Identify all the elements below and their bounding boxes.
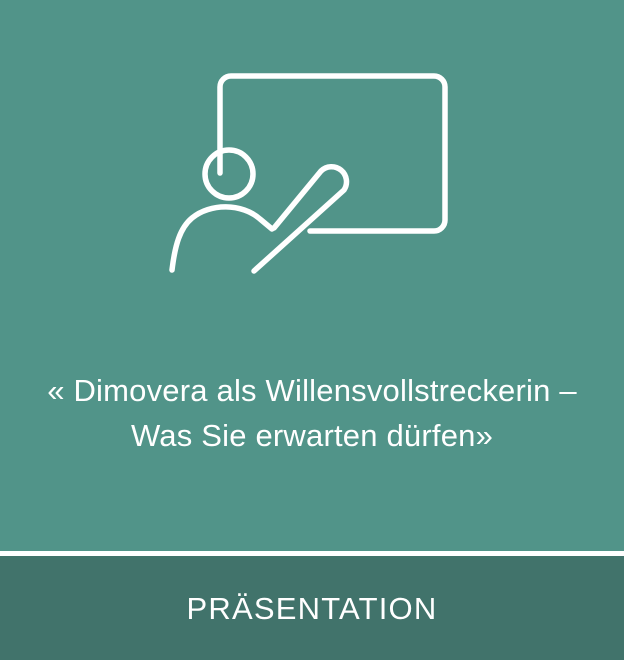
card-body: « Dimovera als Willensvollstreckerin – W… [0,0,624,551]
presenter-arm-pointer [254,166,346,270]
presentation-board-icon-svg [162,63,462,278]
page-title: « Dimovera als Willensvollstreckerin – W… [0,368,624,458]
presenter-shoulders [172,206,272,269]
board-outline [220,76,445,231]
presentation-card[interactable]: « Dimovera als Willensvollstreckerin – W… [0,0,624,660]
presenter-head [205,150,253,198]
page-title-line-2: Was Sie erwarten dürfen» [24,413,600,458]
page-title-line-1: « Dimovera als Willensvollstreckerin – [24,368,600,413]
category-label: PRÄSENTATION [187,593,438,624]
presentation-board-icon [0,60,624,280]
card-footer[interactable]: PRÄSENTATION [0,556,624,660]
